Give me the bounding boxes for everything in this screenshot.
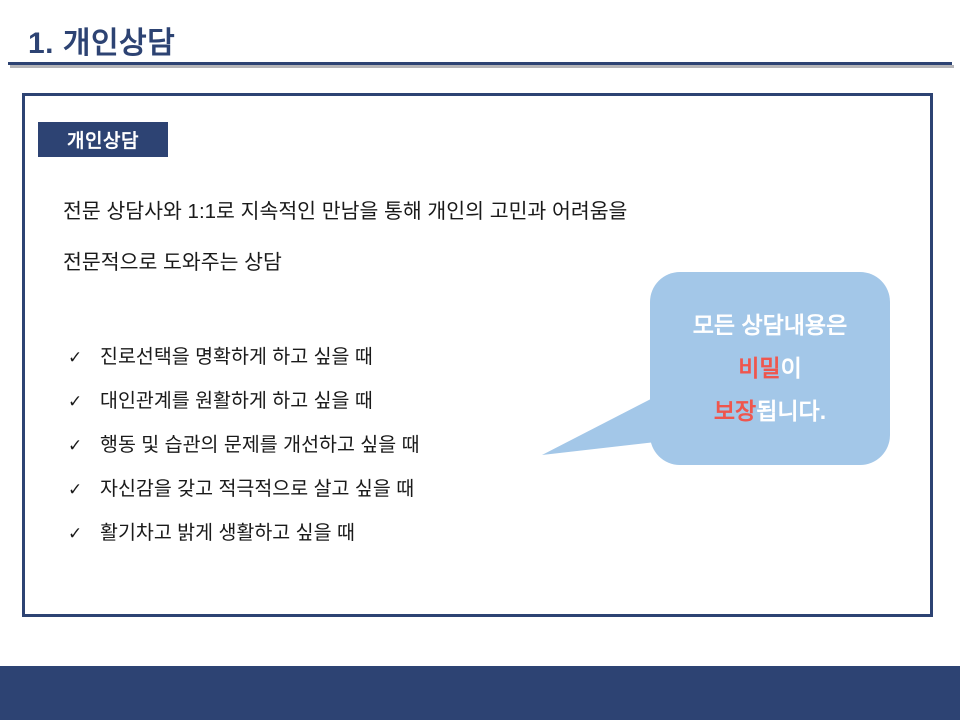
checklist: ✓ 진로선택을 명확하게 하고 싶을 때 ✓ 대인관계를 원활하게 하고 싶을 … — [68, 340, 588, 560]
title-divider-shadow — [10, 65, 954, 68]
callout-line-2: 비밀이 — [738, 347, 802, 390]
section-badge-label: 개인상담 — [67, 126, 139, 153]
list-item-label: 자신감을 갖고 적극적으로 살고 싶을 때 — [100, 472, 414, 501]
list-item-label: 진로선택을 명확하게 하고 싶을 때 — [100, 340, 373, 369]
description-line-1: 전문 상담사와 1:1로 지속적인 만남을 통해 개인의 고민과 어려움을 — [63, 186, 823, 237]
list-item: ✓ 대인관계를 원활하게 하고 싶을 때 — [68, 384, 588, 428]
check-icon: ✓ — [68, 393, 100, 410]
slide-canvas: 1. 개인상담 개인상담 전문 상담사와 1:1로 지속적인 만남을 통해 개인… — [0, 0, 960, 720]
check-icon: ✓ — [68, 437, 100, 454]
callout-highlight-guarantee: 보장 — [714, 398, 756, 424]
list-item: ✓ 자신감을 갖고 적극적으로 살고 싶을 때 — [68, 472, 588, 516]
list-item-label: 활기차고 밝게 생활하고 싶을 때 — [100, 516, 355, 545]
list-item: ✓ 진로선택을 명확하게 하고 싶을 때 — [68, 340, 588, 384]
list-item-label: 행동 및 습관의 문제를 개선하고 싶을 때 — [100, 428, 420, 457]
check-icon: ✓ — [68, 481, 100, 498]
list-item: ✓ 행동 및 습관의 문제를 개선하고 싶을 때 — [68, 428, 588, 472]
check-icon: ✓ — [68, 349, 100, 366]
list-item-label: 대인관계를 원활하게 하고 싶을 때 — [100, 384, 373, 413]
callout-line-3-rest: 됩니다. — [756, 398, 826, 424]
callout-body: 모든 상담내용은 비밀이 보장됩니다. — [650, 272, 890, 465]
callout-bubble: 모든 상담내용은 비밀이 보장됩니다. — [650, 272, 890, 465]
callout-line-3: 보장됩니다. — [714, 390, 826, 433]
callout-line-1: 모든 상담내용은 — [693, 304, 848, 347]
check-icon: ✓ — [68, 525, 100, 542]
footer-band — [0, 666, 960, 720]
callout-line-2-rest: 이 — [781, 355, 802, 381]
list-item: ✓ 활기차고 밝게 생활하고 싶을 때 — [68, 516, 588, 560]
callout-highlight-secret: 비밀 — [738, 355, 780, 381]
section-badge: 개인상담 — [38, 122, 168, 157]
page-title: 1. 개인상담 — [28, 18, 175, 62]
